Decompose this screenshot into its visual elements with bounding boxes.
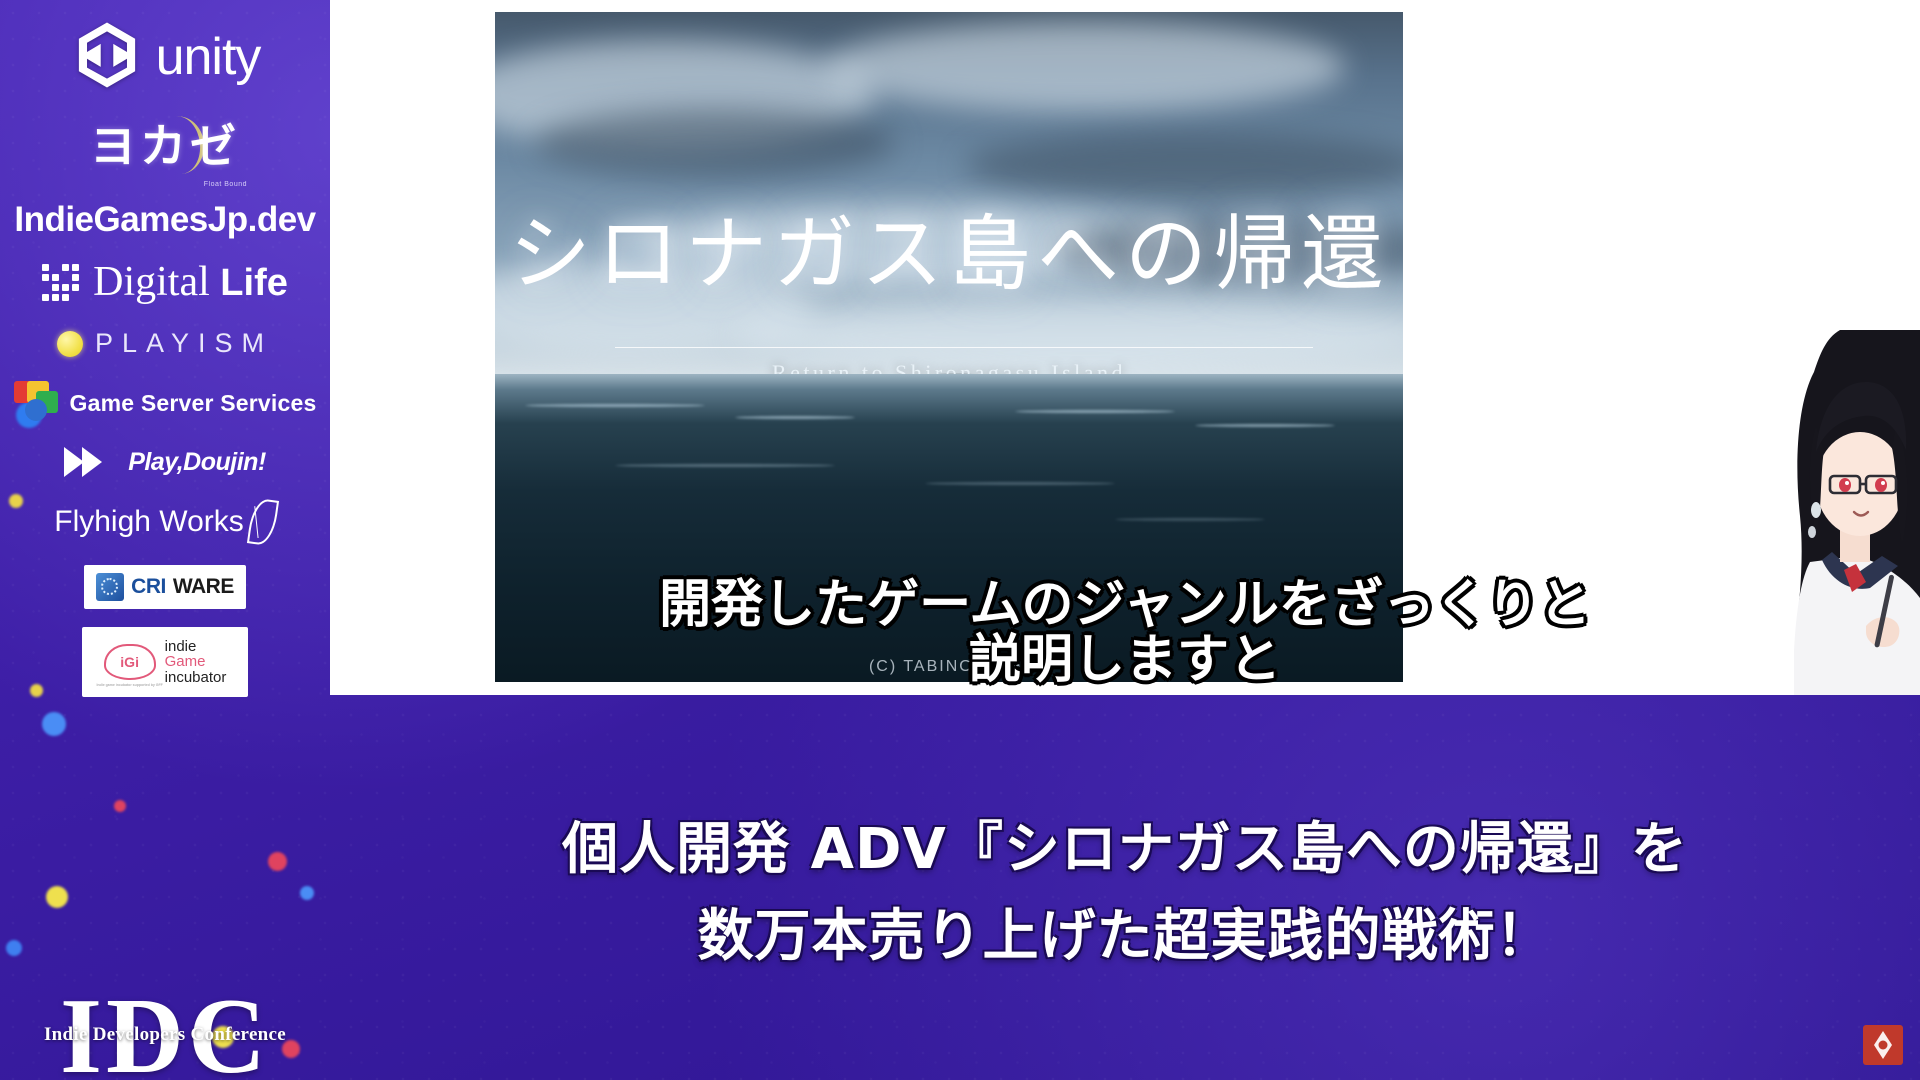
wave — [1115, 518, 1265, 521]
sponsor-logo-indiegamesjp[interactable]: IndieGamesJp.dev — [0, 184, 330, 240]
wave — [1195, 424, 1335, 427]
cloud — [535, 108, 895, 178]
sponsor-logo-game-server-services[interactable]: Game Server Services — [0, 359, 330, 425]
presentation-video[interactable]: シロナガス島への帰還 Return to Shironagasu Island … — [495, 12, 1403, 682]
unity-cube-icon — [70, 18, 144, 92]
banner-line-2: 数万本売り上げた超実践的戦術！ — [698, 891, 1553, 972]
digital-life-word-bold: Life — [220, 262, 288, 304]
sponsor-logo-unity[interactable]: unity — [0, 0, 330, 96]
criware-cube-icon — [96, 573, 124, 601]
video-copyright: (C) TABINOMICHI — [495, 658, 1403, 676]
broadcast-layout: unity ヨカゼ Float Bound IndieGamesJp.dev — [0, 0, 1920, 1080]
session-title-banner: 個人開発 ADV『シロナガス島への帰還』を 数万本売り上げた超実践的戦術！ — [330, 695, 1920, 1080]
sea-background — [495, 374, 1403, 682]
game-title: シロナガス島への帰還 — [495, 187, 1403, 306]
sponsor-logo-yokaze[interactable]: ヨカゼ Float Bound — [0, 96, 330, 184]
flyhigh-wordmark: Flyhigh Works — [54, 505, 244, 539]
yokaze-wordmark: ヨカゼ — [75, 110, 255, 176]
playism-ball-icon — [57, 331, 83, 357]
igi-pad-label: iGi — [120, 654, 139, 670]
playism-wordmark: PLAYISM — [95, 328, 273, 359]
sponsor-logo-igi[interactable]: iGi Indie game incubator supported by GF… — [0, 609, 330, 697]
presenter-avatar — [1770, 330, 1920, 695]
idc-full-name: Indie Developers Conference — [0, 1024, 330, 1046]
diamond-emblem-icon — [1862, 1024, 1904, 1066]
sponsor-logo-criware[interactable]: CRI WARE — [0, 545, 330, 609]
sponsor-logo-play-doujin[interactable]: Play,Doujin! — [0, 425, 330, 477]
dot-grid-icon — [42, 264, 79, 301]
play-doujin-arrow-icon — [64, 447, 120, 477]
sponsor-logo-digital-life[interactable]: Digital Life — [0, 240, 330, 306]
wave — [925, 482, 1115, 485]
gss-wordmark: Game Server Services — [70, 390, 317, 417]
cloud — [825, 22, 1345, 112]
banner-line-1: 個人開発 ADV『シロナガス島への帰還』を — [562, 804, 1688, 885]
digital-life-word-serif: Digital — [93, 259, 210, 305]
igi-line-1: indie — [165, 639, 227, 654]
igi-pad-footnote: Indie game incubator supported by GFF — [96, 683, 162, 687]
igi-line-3: incubator — [165, 670, 227, 685]
unity-wordmark: unity — [156, 27, 261, 87]
criware-word-ware: WARE — [173, 575, 234, 599]
wave — [735, 416, 855, 419]
wave — [525, 404, 705, 407]
title-divider — [615, 347, 1313, 348]
sponsor-logo-flyhigh-works[interactable]: Flyhigh Works — [0, 477, 330, 545]
wave — [1015, 410, 1175, 413]
play-doujin-wordmark: Play,Doujin! — [128, 448, 266, 477]
sponsor-logo-playism[interactable]: PLAYISM — [0, 306, 330, 359]
sponsor-sidebar: unity ヨカゼ Float Bound IndieGamesJp.dev — [0, 0, 330, 1080]
igi-line-2: Game — [165, 654, 227, 669]
criware-word-cri: CRI — [131, 575, 166, 599]
content-panel: シロナガス島への帰還 Return to Shironagasu Island … — [330, 0, 1920, 695]
gss-cube-icon — [14, 381, 58, 425]
indiegamesjp-wordmark: IndieGamesJp.dev — [14, 200, 315, 240]
idc-brand-logo: IDC Indie Developers Conference — [0, 987, 330, 1046]
wave — [615, 464, 835, 467]
feather-icon — [247, 497, 279, 546]
yokaze-sublabel: Float Bound — [204, 181, 247, 188]
gamepad-outline-icon: iGi Indie game incubator supported by GF… — [104, 644, 156, 680]
